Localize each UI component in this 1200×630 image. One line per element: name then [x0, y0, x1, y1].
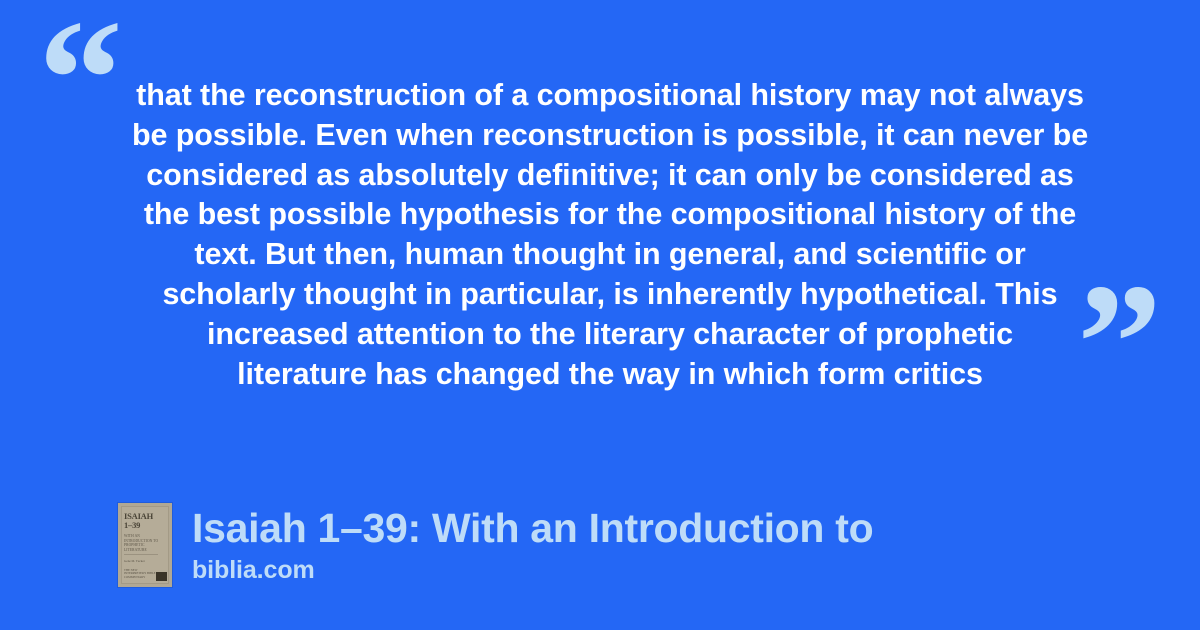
publisher-logo-icon — [156, 572, 167, 581]
quote-line: text. But then, human thought in general… — [110, 235, 1110, 275]
quote-line: scholarly thought in particular, is inhe… — [110, 275, 1110, 315]
quote-line: be possible. Even when reconstruction is… — [110, 116, 1110, 156]
quote-card: “ that the reconstruction of a compositi… — [0, 0, 1200, 630]
quote-line: increased attention to the literary char… — [110, 315, 1110, 355]
book-cover-subtitle: WITH AN INTRODUCTION TO PROPHETIC LITERA… — [124, 534, 164, 552]
quote-close-icon: ” — [1077, 258, 1162, 428]
book-cover-author: Gene M. Tucker — [124, 559, 145, 563]
book-cover-divider — [124, 554, 158, 555]
site-name: biblia.com — [192, 555, 873, 585]
book-cover-imprint: THE NEW INTERPRETER'S BIBLE COMMENTARY — [124, 569, 156, 580]
book-title: Isaiah 1–39: With an Introduction to — [192, 505, 873, 551]
quote-line: literature has changed the way in which … — [110, 355, 1110, 395]
attribution-footer: ISAIAH 1–39 WITH AN INTRODUCTION TO PROP… — [118, 503, 873, 587]
book-cover-thumbnail: ISAIAH 1–39 WITH AN INTRODUCTION TO PROP… — [118, 503, 172, 587]
quote-line: that the reconstruction of a composition… — [110, 76, 1110, 116]
quote-line: the best possible hypothesis for the com… — [110, 195, 1110, 235]
book-cover-title-range: 1–39 — [124, 521, 167, 530]
quote-text: that the reconstruction of a composition… — [110, 76, 1110, 394]
attribution-text: Isaiah 1–39: With an Introduction to bib… — [192, 503, 873, 585]
quote-line: considered as absolutely definitive; it … — [110, 156, 1110, 196]
book-cover-title: ISAIAH 1–39 — [124, 512, 167, 529]
